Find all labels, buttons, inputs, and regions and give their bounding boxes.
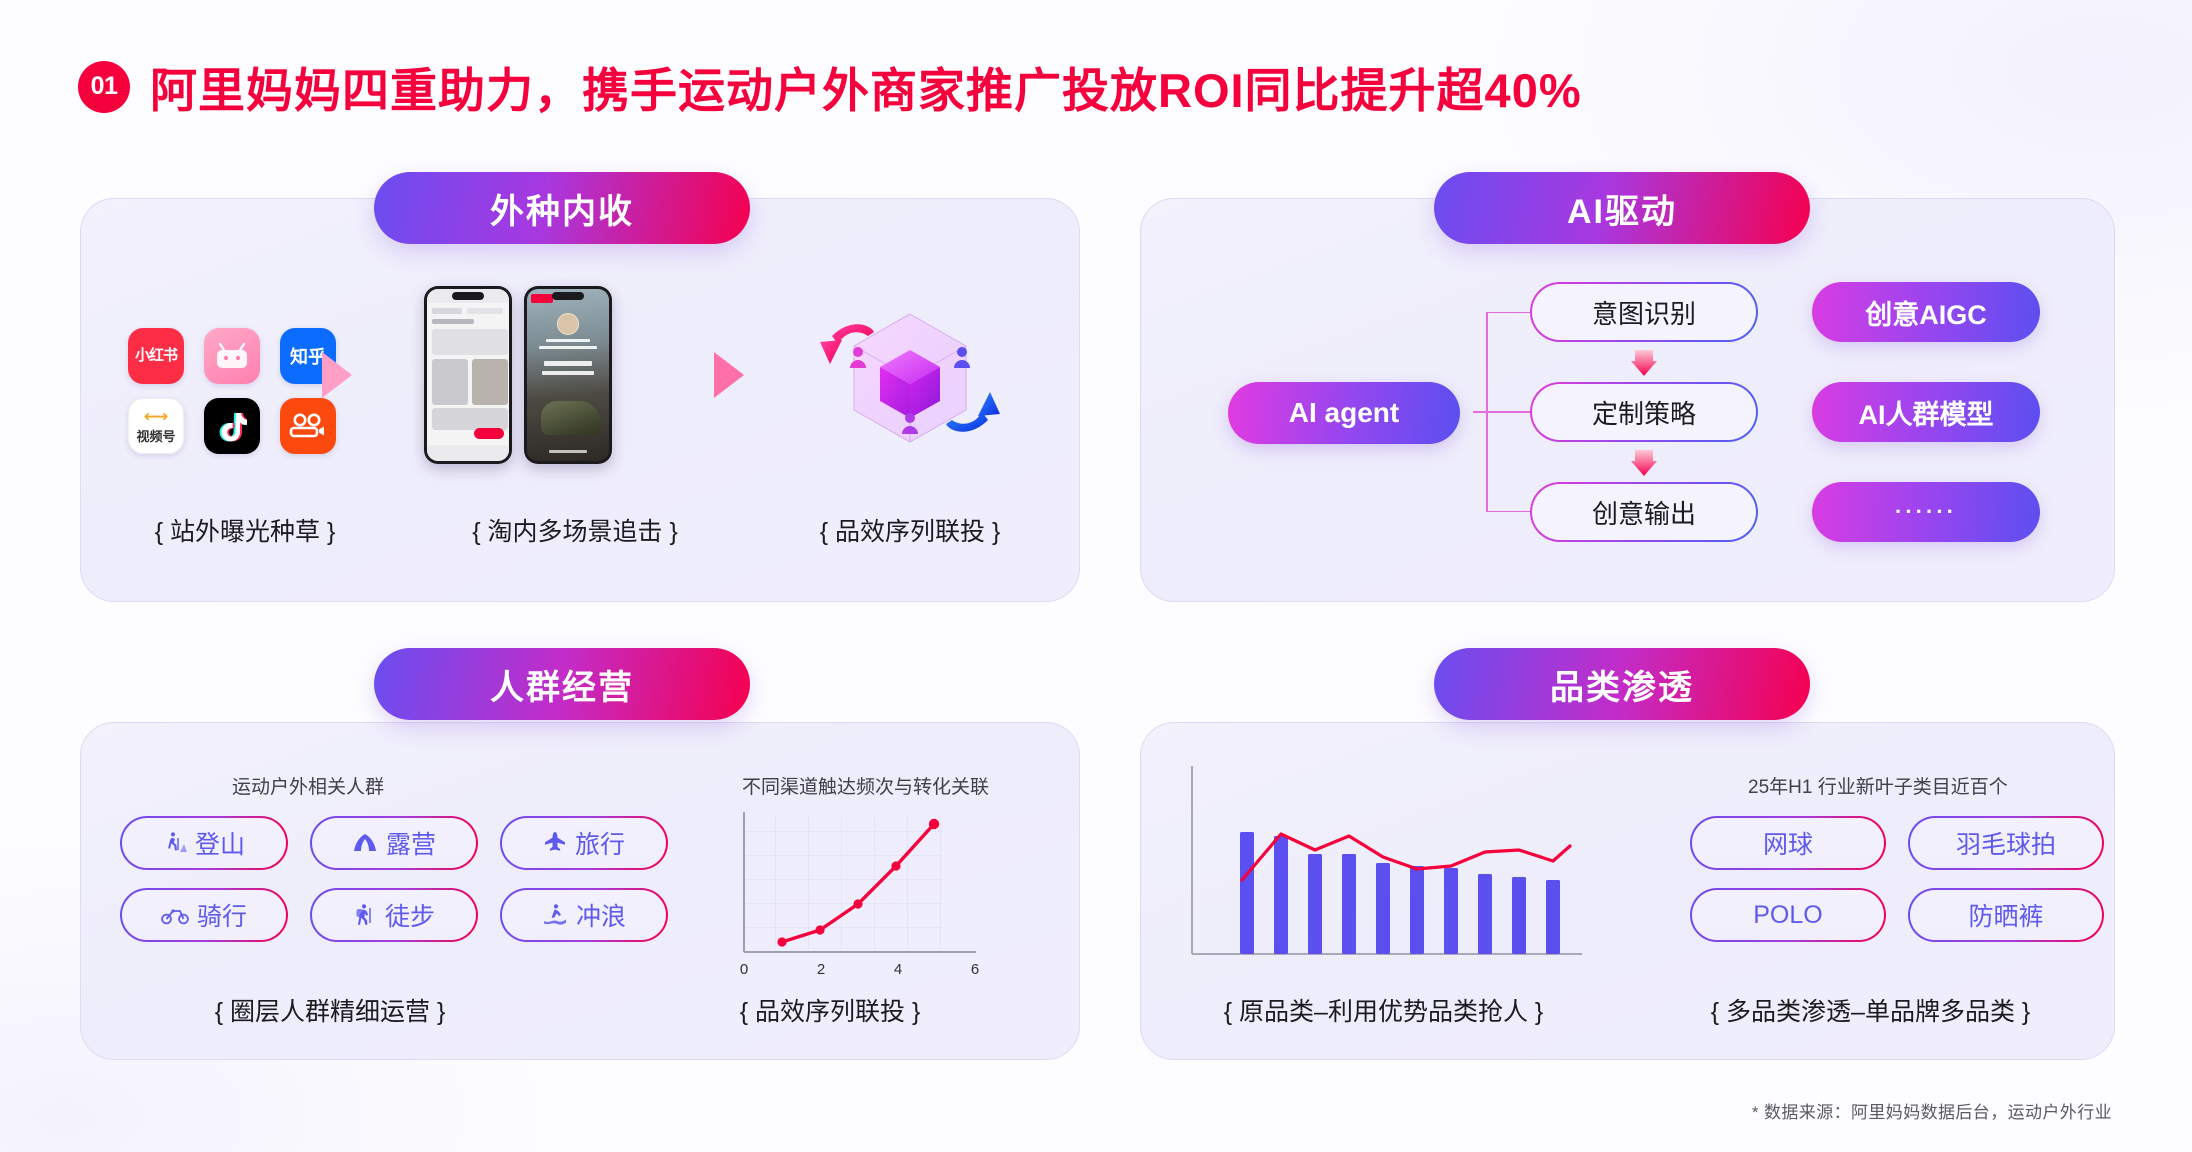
chip-label: 骑行 — [197, 897, 247, 933]
backpacker-icon — [353, 903, 377, 927]
caption-taobao-multiscene: { 淘内多场景追击 } — [410, 512, 740, 548]
phone-notch-icon — [452, 292, 484, 300]
slide-canvas: 01 阿里妈妈四重助力，携手运动户外商家推广投放ROI同比提升超40% 外种内收… — [0, 0, 2192, 1152]
section-number-badge: 01 — [78, 61, 130, 113]
title-text: 阿里妈妈四重助力，携手运动户外商家推广投放ROI同比提升超40% — [150, 52, 1582, 121]
ai-node-intent-recognition[interactable]: 意图识别 — [1530, 282, 1758, 342]
caption-offsite-seeding: { 站外曝光种草 } — [80, 512, 410, 548]
chip-label: 登山 — [195, 825, 245, 861]
flow-arrow-icon-1 — [322, 352, 352, 398]
chip-label: 徒步 — [385, 897, 435, 933]
panel1-captions: { 站外曝光种草 } { 淘内多场景追击 } { 品效序列联投 } — [80, 512, 1080, 548]
panel-heading-category-penetration: 品类渗透 — [1434, 648, 1810, 720]
category-penetration-chart — [1178, 760, 1628, 980]
caption-frequency-conversion: 不同渠道触达频次与转化关联 — [742, 772, 989, 799]
caption-new-leaf-categories: 25年H1 行业新叶子类目近百个 — [1748, 772, 2008, 799]
panel-heading-outside-seeding: 外种内收 — [374, 172, 750, 244]
shipinhao-mark: ⟷ — [144, 408, 168, 425]
ai-tag-creative-aigc[interactable]: 创意AIGC — [1812, 282, 2040, 342]
ai-node-custom-strategy[interactable]: 定制策略 — [1530, 382, 1758, 442]
ai-node-creative-output[interactable]: 创意输出 — [1530, 482, 1758, 542]
data-source-footnote: * 数据来源：阿里妈妈数据后台，运动户外行业 — [1752, 1098, 2112, 1123]
chip-cycling[interactable]: 骑行 — [120, 888, 288, 942]
caption-multi-category: { 多品类渗透–单品牌多品类 } — [1627, 992, 2114, 1028]
caption-brand-effect-sequence-2: { 品效序列联投 } — [580, 992, 1080, 1028]
chip-hiking[interactable]: 登山 — [120, 816, 288, 870]
caption-brand-effect-sequence: { 品效序列联投 } — [740, 512, 1080, 548]
panel3-captions: { 圈层人群精细运营 } { 品效序列联投 } — [80, 992, 1080, 1028]
chip-travel[interactable]: 旅行 — [500, 816, 668, 870]
svg-text:2: 2 — [817, 961, 825, 978]
svg-text:4: 4 — [894, 961, 902, 978]
chip-tennis[interactable]: 网球 — [1690, 816, 1886, 870]
chip-badminton-racket[interactable]: 羽毛球拍 — [1908, 816, 2104, 870]
surfing-icon — [542, 903, 568, 927]
svg-text:6: 6 — [971, 961, 979, 978]
category-chip-grid: 网球 羽毛球拍 POLO 防晒裤 — [1690, 816, 2104, 942]
down-arrow-icon-1 — [1631, 348, 1657, 378]
social-app-icon-grid: 小红书 知乎 ⟷ 视频号 — [128, 328, 336, 454]
frequency-conversion-chart: 0 2 4 6 — [710, 808, 1010, 998]
audience-chip-grid: 登山 露营 旅行 骑行 — [120, 816, 668, 942]
ai-agent-node[interactable]: AI agent — [1228, 382, 1460, 444]
ai-tag-audience-model[interactable]: AI人群模型 — [1812, 382, 2040, 442]
ai-tag-more[interactable]: ······ — [1812, 482, 2040, 542]
panel4-captions: { 原品类–利用优势品类抢人 } { 多品类渗透–单品牌多品类 } — [1140, 992, 2115, 1028]
hiking-icon — [163, 831, 187, 855]
kuaishou-icon[interactable] — [280, 398, 336, 454]
chip-sun-protection-pants[interactable]: 防晒裤 — [1908, 888, 2104, 942]
phone-notch-icon — [552, 292, 584, 300]
caption-fine-audience-operation: { 圈层人群精细运营 } — [80, 992, 580, 1028]
panel-heading-audience-operation: 人群经营 — [374, 648, 750, 720]
flow-arrow-icon-2 — [714, 352, 744, 398]
caption-original-category: { 原品类–利用优势品类抢人 } — [1140, 992, 1627, 1028]
chip-trekking[interactable]: 徒步 — [310, 888, 478, 942]
caption-outdoor-audience: 运动户外相关人群 — [232, 772, 384, 799]
plane-icon — [543, 831, 567, 855]
chip-label: 冲浪 — [576, 897, 626, 933]
chip-polo[interactable]: POLO — [1690, 888, 1886, 942]
chip-camping[interactable]: 露营 — [310, 816, 478, 870]
shipinhao-icon[interactable]: ⟷ 视频号 — [128, 398, 184, 454]
chip-label: 露营 — [386, 825, 436, 861]
svg-text:0: 0 — [740, 961, 748, 978]
shipinhao-label: 视频号 — [136, 426, 175, 445]
tent-icon — [352, 832, 378, 854]
xiaohongshu-icon[interactable]: 小红书 — [128, 328, 184, 384]
douyin-icon[interactable] — [204, 398, 260, 454]
phone-mockup-taobao-cart — [424, 286, 512, 464]
phone-mockup-salomon-ad — [524, 286, 612, 464]
page-title: 01 阿里妈妈四重助力，携手运动户外商家推广投放ROI同比提升超40% — [78, 52, 1582, 121]
panel-heading-ai-driven: AI驱动 — [1434, 172, 1810, 244]
bicycle-icon — [161, 905, 189, 925]
audience-cube-graphic — [812, 290, 1008, 466]
chip-surfing[interactable]: 冲浪 — [500, 888, 668, 942]
chip-label: 旅行 — [575, 825, 625, 861]
down-arrow-icon-2 — [1631, 448, 1657, 478]
bilibili-icon[interactable] — [204, 328, 260, 384]
